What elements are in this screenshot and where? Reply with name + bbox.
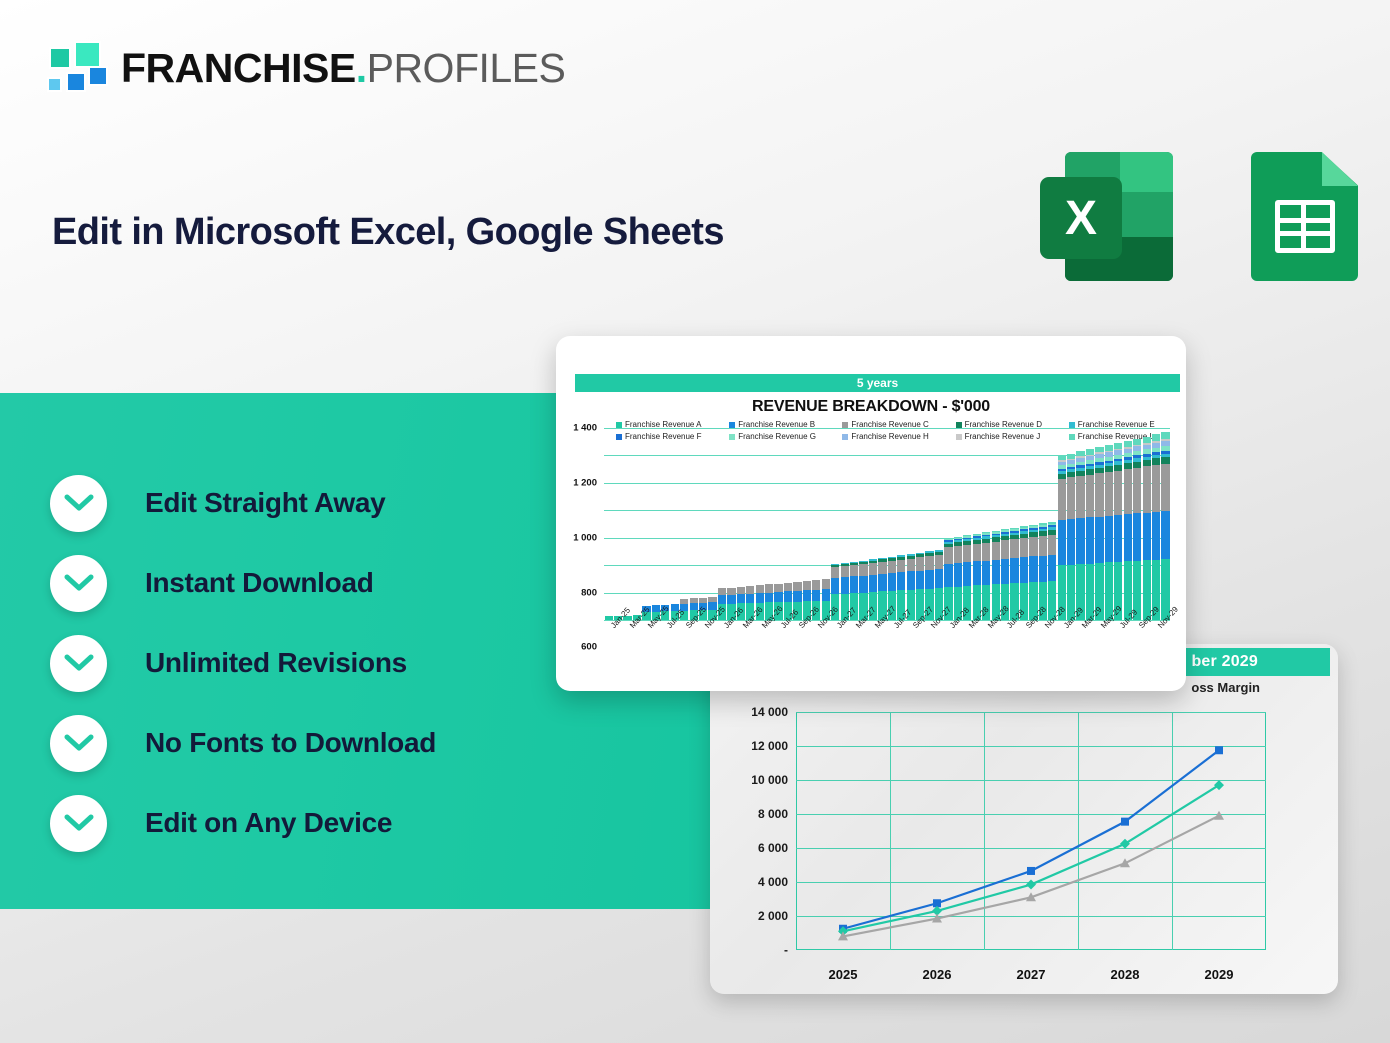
y-axis-tick-label: 1 400 bbox=[573, 423, 597, 434]
bar-chart-banner: 5 years bbox=[575, 374, 1180, 392]
bar-segment bbox=[746, 586, 754, 594]
chevron-down-icon bbox=[50, 715, 107, 772]
bar-segment bbox=[1086, 475, 1094, 518]
bar-segment bbox=[765, 593, 773, 603]
feature-item: Edit on Any Device bbox=[50, 783, 436, 863]
bar-segment bbox=[1124, 469, 1132, 514]
line-chart-legend: oss Margin bbox=[1191, 680, 1260, 695]
bar-segment bbox=[1048, 555, 1056, 581]
bar-column bbox=[973, 534, 981, 620]
bar-segment bbox=[1086, 517, 1094, 563]
brand-logo: FRANCHISE.PROFILES bbox=[45, 41, 565, 96]
bar-segment bbox=[1143, 513, 1151, 561]
bar-segment bbox=[982, 561, 990, 585]
excel-x-glyph: X bbox=[1040, 177, 1122, 259]
x-axis-tick-label: 2025 bbox=[829, 967, 858, 982]
office-icon-group: X bbox=[1040, 152, 1358, 281]
bar-segment bbox=[793, 582, 801, 591]
bar-segment bbox=[1010, 539, 1018, 558]
feature-label: No Fonts to Download bbox=[145, 727, 436, 759]
bar-segment bbox=[916, 557, 924, 570]
bar-segment bbox=[1020, 538, 1028, 557]
bar-segment bbox=[1067, 519, 1075, 565]
bar-segment bbox=[878, 574, 886, 592]
x-axis-tick-label: 2026 bbox=[923, 967, 952, 982]
bar-segment bbox=[1161, 464, 1169, 511]
bar-segment bbox=[812, 590, 820, 601]
bar-segment bbox=[812, 580, 820, 590]
bar-segment bbox=[963, 545, 971, 562]
data-point-marker bbox=[1120, 858, 1130, 867]
bar-column bbox=[1029, 525, 1037, 620]
bar-segment bbox=[1058, 479, 1066, 520]
bar-segment bbox=[1039, 536, 1047, 555]
feature-label: Unlimited Revisions bbox=[145, 647, 407, 679]
feature-item: No Fonts to Download bbox=[50, 703, 436, 783]
bar-column bbox=[954, 537, 962, 620]
bar-chart-card: 5 years REVENUE BREAKDOWN - $'000 Franch… bbox=[556, 336, 1186, 691]
bar-segment bbox=[1114, 515, 1122, 562]
bar-segment bbox=[793, 591, 801, 602]
logo-squares-icon bbox=[45, 41, 105, 96]
bar-segment bbox=[925, 556, 933, 569]
y-axis-tick-label: 1 000 bbox=[573, 532, 597, 543]
bar-segment bbox=[1133, 468, 1141, 514]
bar-segment bbox=[1039, 556, 1047, 582]
bar-column bbox=[1086, 449, 1094, 620]
line-chart-plot: -2 0004 0006 0008 00010 00012 00014 0002… bbox=[796, 712, 1266, 950]
bar-segment bbox=[925, 570, 933, 589]
bar-segment bbox=[1095, 517, 1103, 563]
chevron-down-icon bbox=[50, 475, 107, 532]
bar-segment bbox=[1152, 465, 1160, 512]
legend-swatch bbox=[729, 422, 735, 428]
bar-segment bbox=[784, 583, 792, 592]
bar-column bbox=[1152, 434, 1160, 620]
bar-segment bbox=[888, 561, 896, 573]
bar-segment bbox=[756, 593, 764, 603]
y-axis-tick-label: 6 000 bbox=[758, 841, 788, 855]
bar-segment bbox=[774, 584, 782, 593]
logo-square-blue-mid bbox=[66, 72, 86, 92]
bar-segment bbox=[850, 565, 858, 576]
bar-segment bbox=[1161, 511, 1169, 559]
logo-word-secondary: PROFILES bbox=[367, 45, 566, 91]
bar-segment bbox=[992, 560, 1000, 585]
bar-segment bbox=[803, 581, 811, 590]
data-point-marker bbox=[1121, 818, 1129, 826]
bar-segment bbox=[1067, 477, 1075, 519]
feature-item: Instant Download bbox=[50, 543, 436, 623]
bar-segment bbox=[1076, 518, 1084, 564]
bar-segment bbox=[1133, 513, 1141, 560]
y-axis-tick-label: 800 bbox=[581, 587, 597, 598]
bar-segment bbox=[1058, 520, 1066, 565]
bar-chart-x-axis: Jan-25Mar-25May-25Jul-25Sep-25Nov-25Jan-… bbox=[604, 624, 1170, 684]
bar-segment bbox=[888, 573, 896, 591]
line-series-diamond bbox=[843, 785, 1219, 931]
sheets-page-fold bbox=[1322, 152, 1358, 186]
feature-label: Instant Download bbox=[145, 567, 374, 599]
bar-column bbox=[1058, 456, 1066, 620]
bar-column bbox=[1143, 437, 1151, 620]
bar-segment bbox=[907, 571, 915, 589]
bar-segment bbox=[1114, 471, 1122, 515]
page-title: Edit in Microsoft Excel, Google Sheets bbox=[52, 211, 724, 254]
bar-segment bbox=[973, 544, 981, 562]
bar-column bbox=[1010, 528, 1018, 620]
bar-segment bbox=[727, 595, 735, 604]
data-point-marker bbox=[1214, 780, 1224, 790]
feature-label: Edit Straight Away bbox=[145, 487, 385, 519]
bar-segment bbox=[1076, 476, 1084, 518]
bar-segment bbox=[944, 564, 952, 587]
bar-segment bbox=[992, 542, 1000, 560]
bar-segment bbox=[841, 566, 849, 577]
bar-segment bbox=[756, 585, 764, 593]
bar-column bbox=[1095, 447, 1103, 620]
y-axis-tick-label: 10 000 bbox=[751, 773, 788, 787]
bar-segment bbox=[822, 589, 830, 601]
logo-word-primary: FRANCHISE bbox=[121, 45, 356, 91]
bar-segment bbox=[1029, 537, 1037, 556]
bar-column bbox=[1105, 445, 1113, 620]
bar-segment bbox=[737, 594, 745, 603]
bar-segment bbox=[1001, 559, 1009, 584]
legend-swatch bbox=[842, 422, 848, 428]
bar-chart-plot: -2004006008001 0001 2001 400 bbox=[604, 428, 1170, 620]
data-point-marker bbox=[1214, 811, 1224, 820]
logo-square-lightblue bbox=[47, 77, 62, 92]
bar-segment bbox=[1020, 557, 1028, 583]
logo-dot: . bbox=[356, 45, 367, 91]
bar-column bbox=[1124, 441, 1132, 620]
bar-chart-bars bbox=[604, 428, 1170, 620]
bar-segment bbox=[784, 591, 792, 601]
bar-segment bbox=[1161, 457, 1169, 464]
logo-wordmark: FRANCHISE.PROFILES bbox=[121, 45, 565, 92]
bar-segment bbox=[897, 572, 905, 590]
y-axis-tick-label: 12 000 bbox=[751, 739, 788, 753]
bar-segment bbox=[973, 561, 981, 585]
y-axis-tick-label: 8 000 bbox=[758, 807, 788, 821]
bar-column bbox=[1067, 454, 1075, 620]
bar-column bbox=[1048, 522, 1056, 620]
bar-segment bbox=[869, 575, 877, 592]
legend-swatch bbox=[616, 422, 622, 428]
bar-segment bbox=[1010, 558, 1018, 583]
bar-segment bbox=[982, 543, 990, 561]
bar-segment bbox=[859, 576, 867, 593]
bar-column bbox=[1161, 432, 1169, 620]
data-point-marker bbox=[1215, 746, 1223, 754]
bar-segment bbox=[859, 564, 867, 576]
x-axis-tick-label: 2029 bbox=[1205, 967, 1234, 982]
bar-segment bbox=[878, 562, 886, 574]
bar-chart-title: REVENUE BREAKDOWN - $'000 bbox=[556, 398, 1186, 416]
feature-item: Edit Straight Away bbox=[50, 463, 436, 543]
legend-swatch bbox=[1069, 422, 1075, 428]
bar-segment bbox=[718, 595, 726, 604]
bar-segment bbox=[1152, 458, 1160, 465]
bar-segment bbox=[954, 563, 962, 587]
bar-segment bbox=[935, 555, 943, 569]
y-axis-tick-label: - bbox=[784, 943, 788, 957]
bar-segment bbox=[954, 546, 962, 563]
line-series-square bbox=[843, 750, 1219, 929]
y-axis-tick-label: 4 000 bbox=[758, 875, 788, 889]
bar-segment bbox=[1143, 466, 1151, 512]
line-chart-series-layer bbox=[796, 712, 1266, 950]
bar-segment bbox=[765, 584, 773, 592]
sheets-table-glyph bbox=[1275, 200, 1335, 253]
bar-segment bbox=[1105, 516, 1113, 563]
bar-segment bbox=[1001, 540, 1009, 558]
data-point-marker bbox=[1027, 867, 1035, 875]
bar-segment bbox=[1029, 556, 1037, 582]
bar-segment bbox=[746, 594, 754, 603]
bar-segment bbox=[737, 587, 745, 594]
bar-segment bbox=[1105, 472, 1113, 516]
bar-segment bbox=[774, 592, 782, 602]
bar-segment bbox=[897, 560, 905, 573]
bar-segment bbox=[803, 590, 811, 601]
chevron-down-icon bbox=[50, 795, 107, 852]
y-axis-tick-label: 600 bbox=[581, 642, 597, 653]
bar-segment bbox=[727, 588, 735, 595]
line-chart-card: ber 2029 oss Margin -2 0004 0006 0008 00… bbox=[710, 644, 1338, 994]
bar-segment bbox=[850, 576, 858, 593]
data-point-marker bbox=[1120, 839, 1130, 849]
feature-label: Edit on Any Device bbox=[145, 807, 392, 839]
bar-segment bbox=[944, 547, 952, 564]
bar-column bbox=[1020, 526, 1028, 620]
bar-segment bbox=[831, 567, 839, 578]
bar-segment bbox=[1152, 512, 1160, 560]
data-point-marker bbox=[1026, 880, 1036, 890]
bar-column bbox=[992, 531, 1000, 620]
y-axis-tick-label: 1 200 bbox=[573, 477, 597, 488]
bar-segment bbox=[1095, 473, 1103, 516]
bar-segment bbox=[1048, 535, 1056, 555]
y-axis-tick-label: 2 000 bbox=[758, 909, 788, 923]
bar-segment bbox=[718, 588, 726, 595]
logo-square-mint bbox=[74, 41, 101, 68]
bar-segment bbox=[907, 559, 915, 572]
feature-list: Edit Straight Away Instant Download Unli… bbox=[50, 463, 436, 863]
bar-segment bbox=[841, 577, 849, 593]
bar-column bbox=[1076, 451, 1084, 620]
chevron-down-icon bbox=[50, 555, 107, 612]
feature-item: Unlimited Revisions bbox=[50, 623, 436, 703]
google-sheets-icon bbox=[1251, 152, 1358, 281]
bar-segment bbox=[822, 579, 830, 589]
bar-column bbox=[1114, 443, 1122, 620]
x-axis-tick-label: 2028 bbox=[1111, 967, 1140, 982]
legend-swatch bbox=[956, 422, 962, 428]
bar-segment bbox=[1124, 514, 1132, 561]
bar-segment bbox=[963, 562, 971, 586]
microsoft-excel-icon: X bbox=[1040, 152, 1173, 281]
bar-column bbox=[1133, 439, 1141, 620]
logo-square-blue-right bbox=[88, 66, 108, 86]
x-axis-tick-label: 2027 bbox=[1017, 967, 1046, 982]
bar-segment bbox=[831, 578, 839, 594]
bar-segment bbox=[869, 563, 877, 575]
y-axis-tick-label: 14 000 bbox=[751, 705, 788, 719]
chevron-down-icon bbox=[50, 635, 107, 692]
bar-segment bbox=[916, 571, 924, 590]
logo-square-teal bbox=[49, 47, 71, 69]
bar-segment bbox=[935, 569, 943, 588]
